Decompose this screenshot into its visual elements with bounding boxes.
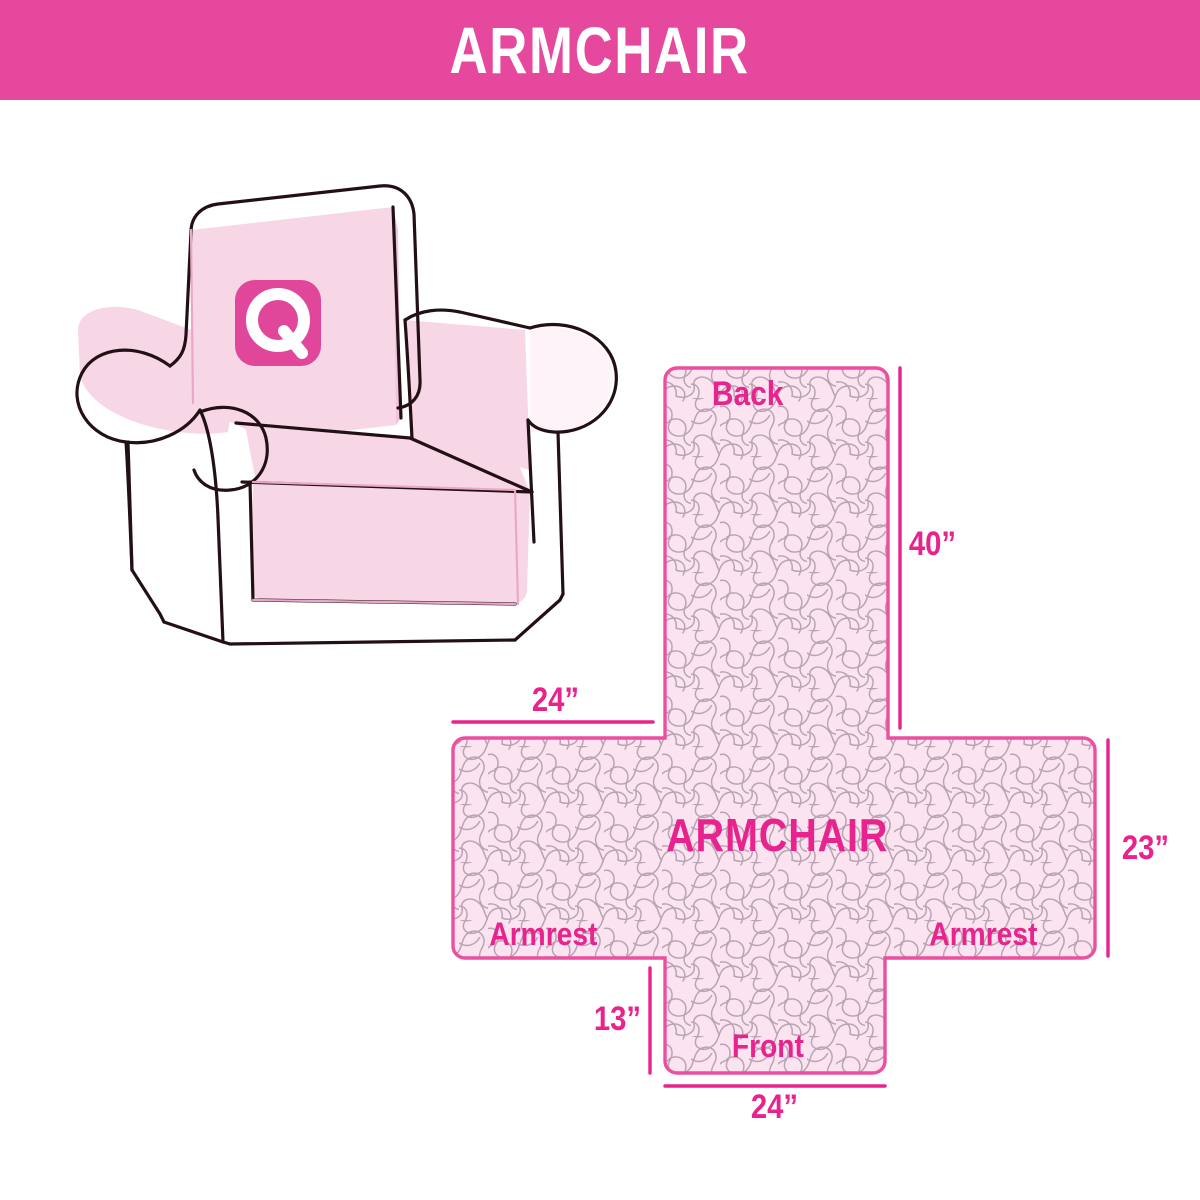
chair-body-inner-left — [218, 518, 223, 642]
chair-body-front-left — [164, 622, 230, 644]
cover-pattern-diagram — [430, 340, 1200, 1140]
chair-body-left — [132, 570, 164, 622]
q-logo-badge — [235, 280, 321, 366]
page-title: ARMCHAIR — [450, 17, 750, 83]
panel-label-armrest-right: Armrest — [929, 918, 1037, 950]
panel-label-front: Front — [732, 1030, 804, 1062]
header-banner: ARMCHAIR — [0, 0, 1200, 100]
panel-label-back: Back — [712, 377, 784, 411]
product-dimension-diagram-page: ARMCHAIR — [0, 0, 1200, 1200]
chair-body-left-up — [128, 442, 132, 570]
dimension-label-front-width: 24” — [751, 1090, 798, 1124]
dimension-label-back-width: 24” — [532, 683, 579, 717]
diagram-center-label: ARMCHAIR — [666, 812, 888, 858]
dimension-label-armrest-depth: 23” — [1122, 831, 1169, 865]
dimension-label-back-length: 40” — [909, 527, 956, 561]
dimension-label-front-length: 13” — [594, 1002, 641, 1036]
panel-label-armrest-left: Armrest — [489, 918, 597, 950]
